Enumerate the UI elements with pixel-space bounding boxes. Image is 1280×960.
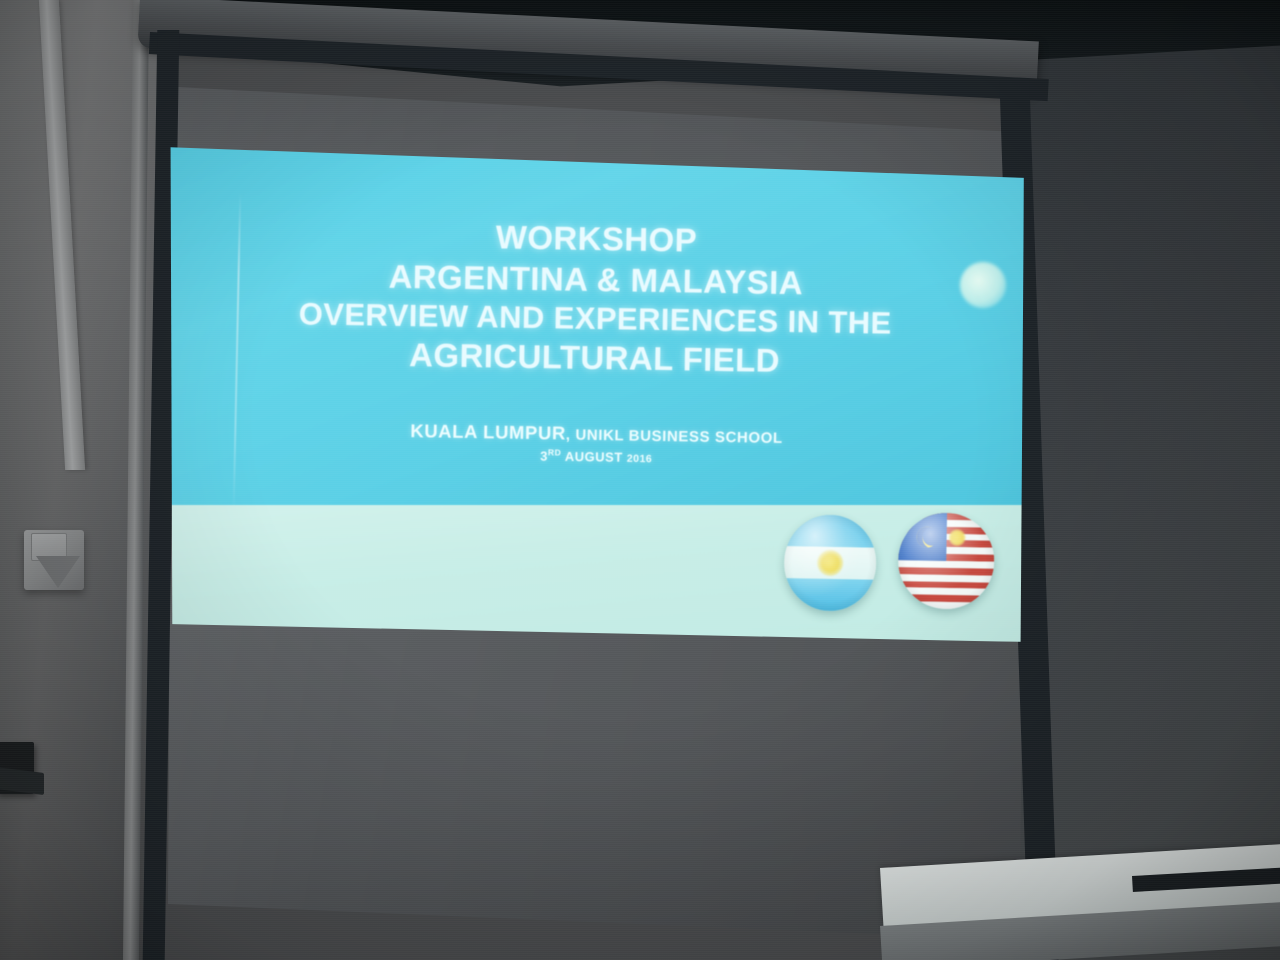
- date-year: 2016: [626, 452, 652, 464]
- argentina-stripe-bottom: [783, 578, 876, 612]
- room-scene: WORKSHOP ARGENTINA & MALAYSIA OVERVIEW A…: [0, 0, 1280, 960]
- malaysia-crescent-icon: [917, 527, 938, 548]
- argentina-stripe-top: [784, 514, 877, 548]
- date-ordinal: RD: [547, 447, 560, 457]
- argentina-flag-icon: [783, 514, 877, 612]
- screen-frame-top: [149, 32, 1049, 101]
- projector-glare-spot: [960, 262, 1006, 308]
- malaysia-flag-icon: [897, 512, 995, 610]
- slide-title: WORKSHOP ARGENTINA & MALAYSIA OVERVIEW A…: [235, 213, 956, 384]
- date-day: 3: [540, 448, 548, 463]
- subtitle-city: KUALA LUMPUR: [410, 420, 566, 443]
- date-month: AUGUST: [561, 448, 627, 464]
- subtitle-separator: ,: [565, 426, 575, 443]
- subtitle-venue: UNIKL BUSINESS SCHOOL: [575, 426, 783, 446]
- flag-group: [779, 510, 1004, 636]
- projected-slide: WORKSHOP ARGENTINA & MALAYSIA OVERVIEW A…: [168, 132, 1024, 642]
- malaysia-stripe: [897, 601, 993, 610]
